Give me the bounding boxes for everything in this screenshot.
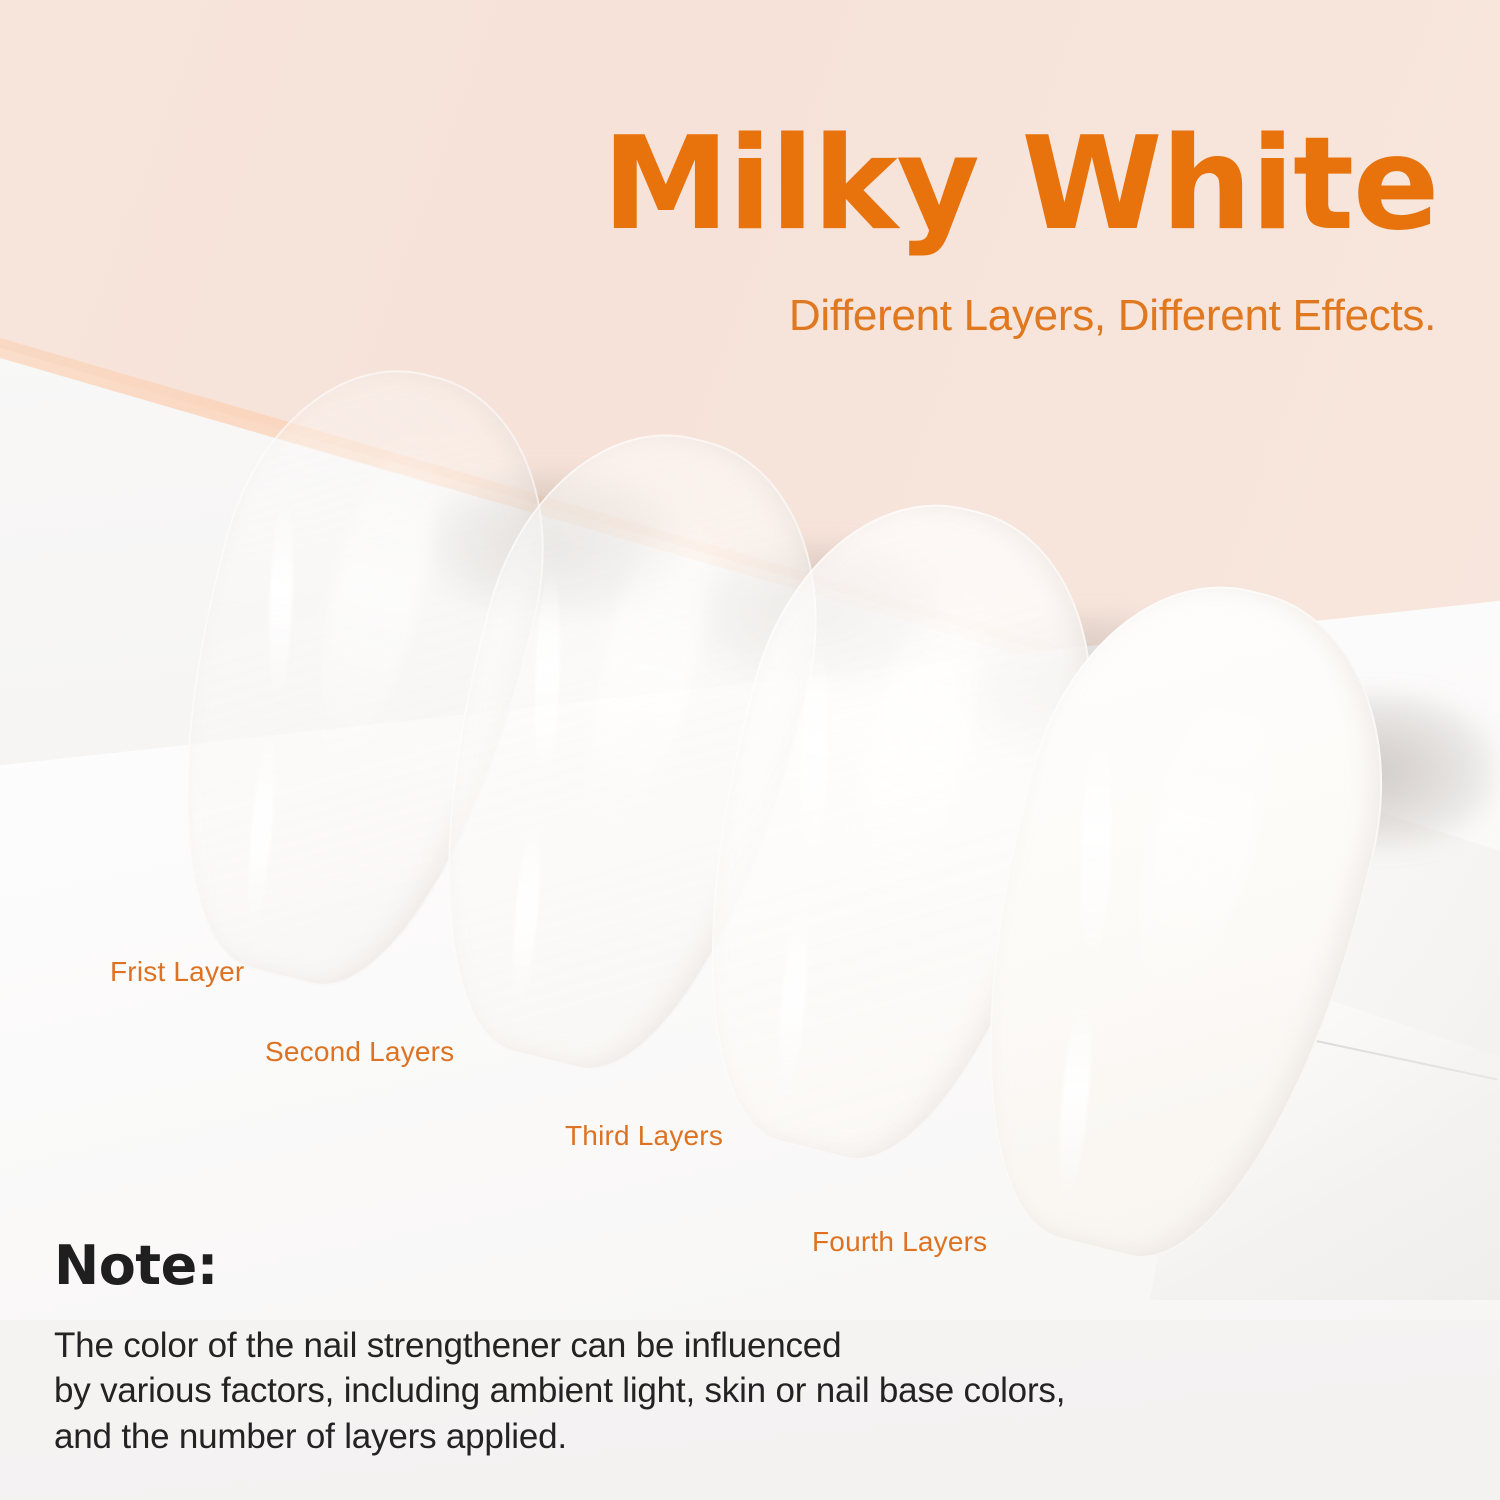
note-body: The color of the nail strengthener can b… xyxy=(54,1323,1454,1460)
note-line-1: The color of the nail strengthener can b… xyxy=(54,1323,1454,1369)
page-subtitle: Different Layers, Different Effects. xyxy=(0,292,1436,340)
page-title: Milky White xyxy=(0,120,1438,251)
note-line-2: by various factors, including ambient li… xyxy=(54,1368,1454,1414)
label-third-layer: Third Layers xyxy=(565,1120,723,1152)
label-first-layer: Frist Layer xyxy=(110,956,244,988)
product-infographic: Milky White Different Layers, Different … xyxy=(0,0,1500,1500)
note-line-3: and the number of layers applied. xyxy=(54,1414,1454,1460)
note-block: Note: The color of the nail strengthener… xyxy=(54,1238,1454,1459)
note-heading: Note: xyxy=(54,1238,1454,1295)
label-second-layer: Second Layers xyxy=(265,1036,454,1068)
